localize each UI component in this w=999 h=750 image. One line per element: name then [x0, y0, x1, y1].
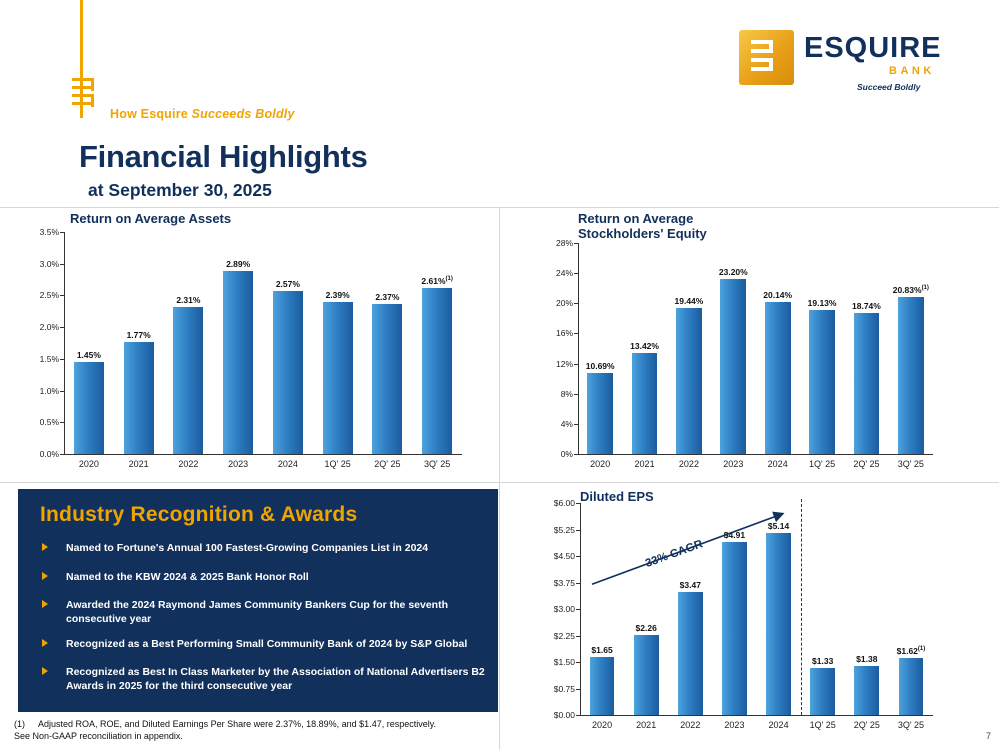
footnote-line2: See Non-GAAP reconciliation in appendix. — [14, 730, 436, 742]
period-separator — [801, 499, 802, 715]
y-tick-mark — [576, 609, 580, 610]
y-tick-mark — [60, 232, 64, 233]
y-tick-label: $2.25 — [554, 631, 575, 641]
x-axis — [64, 454, 462, 455]
x-tick-label: 2020 — [592, 720, 612, 730]
bullet-triangle-icon — [42, 572, 48, 580]
y-tick-mark — [60, 454, 64, 455]
x-tick-label: 2Q' 25 — [374, 459, 400, 469]
page-number: 7 — [986, 731, 991, 741]
bar-value-label: 1.45% — [77, 350, 101, 360]
y-tick-mark — [576, 503, 580, 504]
bar — [124, 342, 154, 454]
y-tick-label: 12% — [556, 359, 573, 369]
slide: How Esquire Succeeds Boldly Financial Hi… — [0, 0, 999, 750]
chart-title-roae-line2: Stockholders' Equity — [578, 226, 707, 241]
bar-value-label: $1.33 — [812, 656, 833, 666]
bar — [678, 592, 703, 715]
x-tick-label: 2023 — [228, 459, 248, 469]
bar — [676, 308, 702, 454]
x-tick-label: 2022 — [679, 459, 699, 469]
y-tick-mark — [574, 394, 578, 395]
bar-value-label: 20.14% — [763, 290, 792, 300]
x-tick-label: 2024 — [769, 720, 789, 730]
bullet-triangle-icon — [42, 600, 48, 608]
y-tick-mark — [574, 273, 578, 274]
y-tick-label: 4% — [561, 419, 573, 429]
x-tick-label: 2023 — [724, 720, 744, 730]
y-tick-mark — [574, 424, 578, 425]
bar — [810, 668, 835, 715]
y-tick-label: 0.5% — [40, 417, 59, 427]
bar-value-label: 2.31% — [176, 295, 200, 305]
eyebrow-italic: Succeeds Boldly — [192, 107, 295, 121]
x-tick-label: 2020 — [79, 459, 99, 469]
award-item-label: Awarded the 2024 Raymond James Community… — [66, 599, 506, 626]
x-tick-label: 2020 — [590, 459, 610, 469]
brand-subname: BANK — [889, 65, 935, 77]
award-item-0: Named to Fortune's Annual 100 Fastest-Gr… — [42, 542, 506, 556]
y-tick-mark — [576, 530, 580, 531]
page-subtitle: at September 30, 2025 — [88, 180, 272, 201]
y-tick-label: $5.25 — [554, 525, 575, 535]
bar-value-label: $5.14 — [768, 521, 789, 531]
y-tick-mark — [576, 715, 580, 716]
y-tick-label: 3.0% — [40, 259, 59, 269]
bar-value-label: 19.44% — [675, 296, 704, 306]
bar — [765, 302, 791, 454]
y-tick-label: $3.75 — [554, 578, 575, 588]
y-axis — [578, 243, 579, 454]
y-tick-mark — [576, 689, 580, 690]
award-item-2: Awarded the 2024 Raymond James Community… — [42, 599, 506, 626]
x-tick-label: 3Q' 25 — [898, 720, 924, 730]
chart-title-roae: Return on Average Stockholders' Equity — [578, 211, 707, 241]
bar — [634, 635, 659, 715]
y-tick-label: 8% — [561, 389, 573, 399]
x-axis — [580, 715, 933, 716]
page-title: Financial Highlights — [79, 139, 368, 175]
y-tick-mark — [576, 636, 580, 637]
x-tick-label: 1Q' 25 — [809, 459, 835, 469]
y-tick-label: $0.75 — [554, 684, 575, 694]
footnote-line1: Adjusted ROA, ROE, and Diluted Earnings … — [38, 719, 436, 729]
brand-name: ESQUIRE — [804, 32, 942, 65]
bar — [722, 542, 747, 715]
x-tick-label: 3Q' 25 — [898, 459, 924, 469]
y-tick-mark — [576, 662, 580, 663]
bar — [323, 302, 353, 454]
y-tick-mark — [574, 364, 578, 365]
x-tick-label: 2021 — [635, 459, 655, 469]
bar-value-label: 23.20% — [719, 267, 748, 277]
y-tick-label: 3.5% — [40, 227, 59, 237]
bar — [422, 288, 452, 454]
bar-value-label: 20.83%(1) — [893, 285, 929, 295]
awards-panel: Industry Recognition & Awards Named to F… — [18, 489, 498, 712]
y-tick-mark — [574, 454, 578, 455]
chart-title-roaa: Return on Average Assets — [70, 211, 231, 226]
bar — [898, 297, 924, 454]
y-tick-mark — [60, 295, 64, 296]
award-item-1: Named to the KBW 2024 & 2025 Bank Honor … — [42, 571, 506, 585]
bar — [899, 658, 924, 715]
bar-value-label: 2.61%(1) — [421, 276, 452, 286]
bar — [766, 533, 791, 715]
x-tick-label: 1Q' 25 — [810, 720, 836, 730]
bullet-triangle-icon — [42, 667, 48, 675]
y-tick-mark — [576, 556, 580, 557]
y-tick-mark — [60, 327, 64, 328]
bar — [372, 304, 402, 454]
award-item-4: Recognized as Best In Class Marketer by … — [42, 666, 506, 693]
bar-value-label: $3.47 — [680, 580, 701, 590]
award-item-label: Named to Fortune's Annual 100 Fastest-Gr… — [66, 542, 506, 556]
chart-roaa: 0.0%0.5%1.0%1.5%2.0%2.5%3.0%3.5%1.45%202… — [64, 232, 462, 472]
bar-value-label: $1.62(1) — [897, 646, 926, 656]
y-tick-label: 1.0% — [40, 386, 59, 396]
bar-value-label: 1.77% — [127, 330, 151, 340]
esquire-mark-icon — [72, 78, 106, 110]
y-tick-label: $3.00 — [554, 604, 575, 614]
bar — [854, 313, 880, 454]
y-tick-label: 1.5% — [40, 354, 59, 364]
x-tick-label: 2024 — [278, 459, 298, 469]
bar-value-label: 2.57% — [276, 279, 300, 289]
x-tick-label: 2Q' 25 — [854, 720, 880, 730]
chart-title-roae-line1: Return on Average — [578, 211, 707, 226]
bar — [854, 666, 879, 715]
y-tick-label: 20% — [556, 298, 573, 308]
awards-heading: Industry Recognition & Awards — [40, 503, 357, 527]
cagr-annotation: 33% CAGR — [644, 538, 705, 570]
footnote: (1)Adjusted ROA, ROE, and Diluted Earnin… — [14, 718, 436, 742]
footnote-marker: (1) — [14, 718, 38, 730]
y-tick-label: 0% — [561, 449, 573, 459]
bar — [720, 279, 746, 454]
y-axis — [580, 503, 581, 715]
x-tick-label: 2022 — [178, 459, 198, 469]
brand-tagline: Succeed Boldly — [857, 82, 920, 92]
eyebrow-prefix: How Esquire — [110, 107, 192, 121]
x-tick-label: 2021 — [636, 720, 656, 730]
brand-mark-icon — [739, 30, 794, 85]
y-tick-label: 24% — [556, 268, 573, 278]
brand-logo: ESQUIRE BANK Succeed Boldly — [739, 30, 944, 92]
bar — [590, 657, 615, 715]
y-tick-label: $0.00 — [554, 710, 575, 720]
bar-value-label: 13.42% — [630, 341, 659, 351]
bar-value-label: 2.89% — [226, 259, 250, 269]
chart-title-eps: Diluted EPS — [580, 489, 654, 504]
bar — [809, 310, 835, 454]
y-tick-mark — [60, 359, 64, 360]
bar-value-label: $4.91 — [724, 530, 745, 540]
bar-value-label: $1.65 — [591, 645, 612, 655]
bar — [223, 271, 253, 454]
bar — [173, 307, 203, 454]
y-tick-mark — [60, 391, 64, 392]
y-tick-mark — [574, 333, 578, 334]
award-item-label: Recognized as a Best Performing Small Co… — [66, 638, 506, 652]
y-tick-label: $1.50 — [554, 657, 575, 667]
bar-value-label: 19.13% — [808, 298, 837, 308]
bullet-triangle-icon — [42, 543, 48, 551]
chart-roae: 0%4%8%12%16%20%24%28%10.69%202013.42%202… — [578, 243, 933, 472]
y-tick-label: $4.50 — [554, 551, 575, 561]
x-axis — [578, 454, 933, 455]
bar-value-label: $2.26 — [636, 623, 657, 633]
y-tick-label: 0.0% — [40, 449, 59, 459]
x-tick-label: 2024 — [768, 459, 788, 469]
x-tick-label: 3Q' 25 — [424, 459, 450, 469]
bar-value-label: $1.38 — [856, 654, 877, 664]
bar-value-label: 10.69% — [586, 361, 615, 371]
x-tick-label: 2021 — [129, 459, 149, 469]
y-tick-mark — [60, 264, 64, 265]
x-tick-label: 2023 — [723, 459, 743, 469]
bar-value-label: 2.39% — [326, 290, 350, 300]
divider-horizontal-right — [500, 482, 999, 483]
award-item-label: Recognized as Best In Class Marketer by … — [66, 666, 506, 693]
bar — [273, 291, 303, 454]
x-tick-label: 1Q' 25 — [325, 459, 351, 469]
eyebrow-text: How Esquire Succeeds Boldly — [110, 107, 295, 121]
award-item-label: Named to the KBW 2024 & 2025 Bank Honor … — [66, 571, 506, 585]
y-tick-mark — [60, 422, 64, 423]
y-tick-label: 2.0% — [40, 322, 59, 332]
y-tick-mark — [576, 583, 580, 584]
bar — [632, 353, 658, 454]
y-axis — [64, 232, 65, 454]
bar-value-label: 18.74% — [852, 301, 881, 311]
x-tick-label: 2Q' 25 — [853, 459, 879, 469]
bar — [587, 373, 613, 454]
y-tick-label: 28% — [556, 238, 573, 248]
bullet-triangle-icon — [42, 639, 48, 647]
y-tick-mark — [574, 243, 578, 244]
y-tick-label: $6.00 — [554, 498, 575, 508]
y-tick-mark — [574, 303, 578, 304]
chart-eps: $0.00$0.75$1.50$2.25$3.00$3.75$4.50$5.25… — [580, 503, 933, 733]
bar — [74, 362, 104, 454]
x-tick-label: 2022 — [680, 720, 700, 730]
bar-value-label: 2.37% — [375, 292, 399, 302]
y-tick-label: 16% — [556, 328, 573, 338]
y-tick-label: 2.5% — [40, 290, 59, 300]
award-item-3: Recognized as a Best Performing Small Co… — [42, 638, 506, 652]
divider-horizontal-left — [0, 482, 499, 483]
